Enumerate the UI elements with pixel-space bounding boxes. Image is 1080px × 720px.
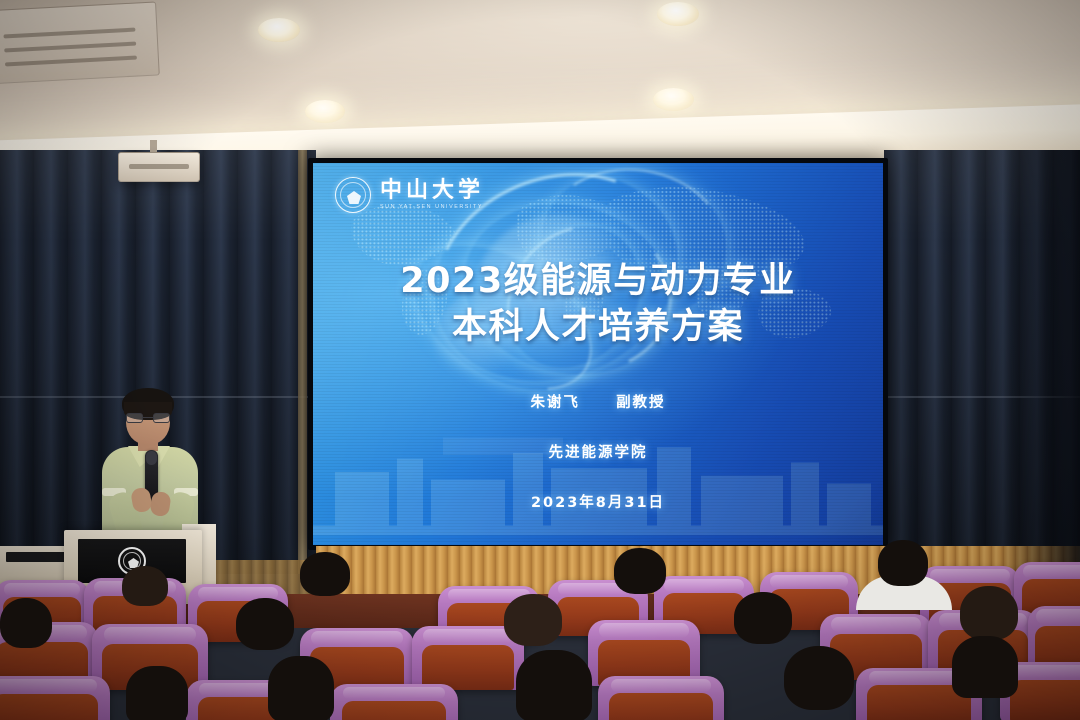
presenter-name: 朱谢飞 <box>530 395 580 411</box>
slide-title: 2023级能源与动力专业 本科人才培养方案 <box>313 259 883 350</box>
slide-university-logo: 中山大学 SUN YAT-SEN UNIVERSITY <box>335 177 484 213</box>
slide-title-line-2: 本科人才培养方案 <box>313 305 883 351</box>
projection-screen: 中山大学 SUN YAT-SEN UNIVERSITY 2023级能源与动力专业… <box>313 163 883 545</box>
university-name-cn: 中山大学 <box>380 180 484 202</box>
university-crest-icon <box>335 177 371 213</box>
audience-head <box>236 598 294 650</box>
audience-head <box>878 540 928 586</box>
glasses-icon <box>125 413 171 423</box>
audience-head <box>268 656 334 720</box>
slide-department: 先进能源学院 <box>313 441 883 462</box>
air-conditioner-vent-upper <box>0 1 160 84</box>
seat <box>0 676 110 720</box>
university-name-en: SUN YAT-SEN UNIVERSITY <box>380 205 484 210</box>
lecture-hall-photo: 中山大学 SUN YAT-SEN UNIVERSITY 2023级能源与动力专业… <box>0 0 1080 720</box>
slide-metadata: 朱谢飞 副教授 先进能源学院 2023年8月31日 <box>313 391 883 512</box>
seat <box>330 684 458 720</box>
seat <box>598 676 724 720</box>
audience-head <box>122 566 168 606</box>
audience-head <box>0 598 52 648</box>
slide-presenter-line: 朱谢飞 副教授 <box>313 391 883 412</box>
ceiling-downlight <box>258 18 300 42</box>
wall-trim-left <box>298 150 307 574</box>
ceiling-downlight <box>657 2 699 26</box>
audience-head <box>734 592 792 644</box>
audience-head <box>960 586 1018 640</box>
audience-head <box>784 646 854 710</box>
presenter-rank: 副教授 <box>616 395 666 411</box>
slide-title-line-1: 2023级能源与动力专业 <box>313 259 883 305</box>
audience-head <box>516 650 592 720</box>
audience-head <box>614 548 666 594</box>
right-wall-shadow <box>1000 150 1080 620</box>
audience-head <box>952 636 1018 698</box>
audience-head <box>504 594 562 646</box>
audience-head <box>126 666 188 720</box>
ceiling-speaker-box <box>118 152 200 182</box>
audience-head <box>300 552 350 596</box>
slide-date: 2023年8月31日 <box>313 491 883 512</box>
